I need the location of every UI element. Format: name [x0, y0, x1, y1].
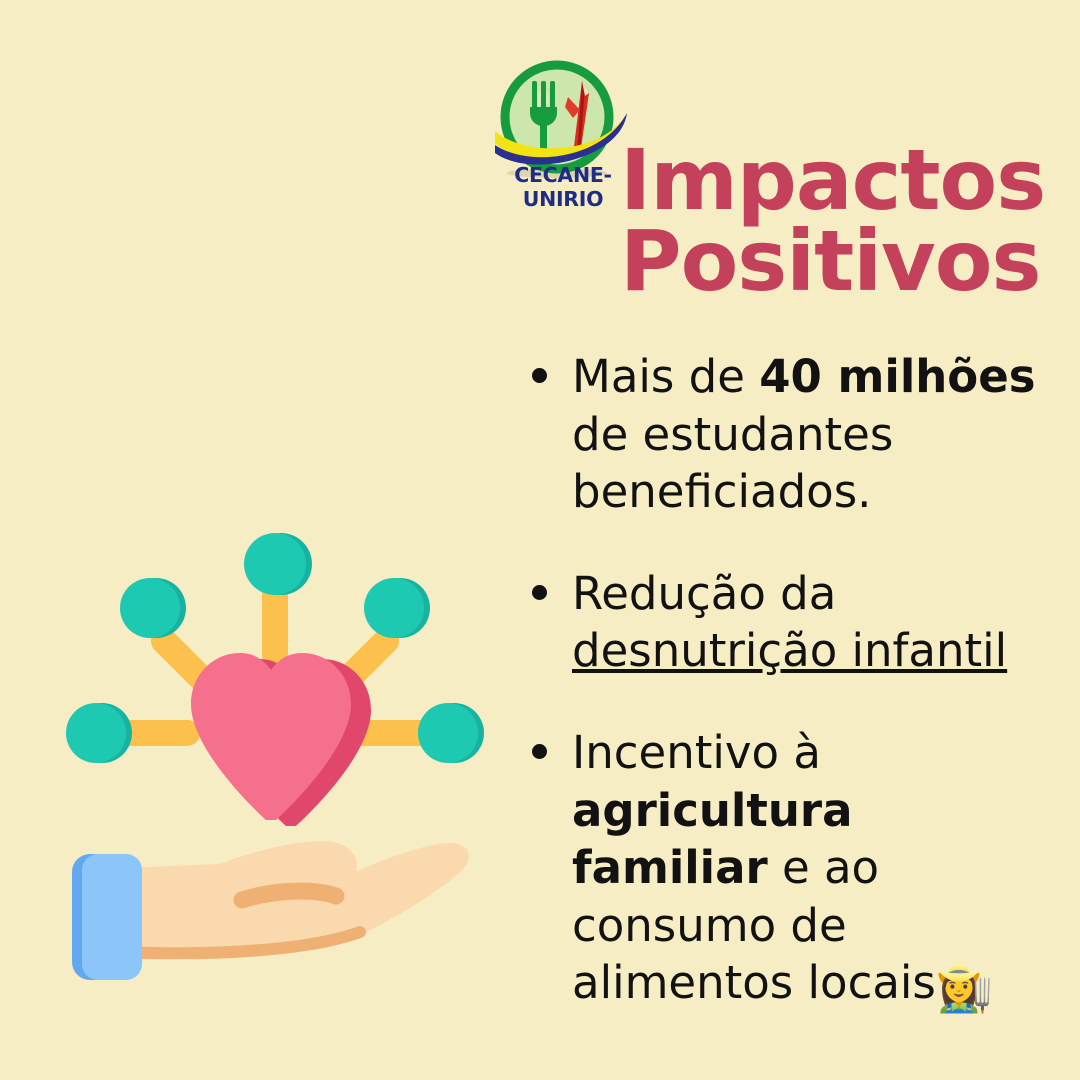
page-title: Impactos Positivos	[620, 140, 1040, 301]
heart-icon	[191, 653, 371, 826]
list-item: Incentivo à agricultura familiar e ao co…	[520, 724, 1060, 1018]
sleeve-cuff	[82, 854, 142, 980]
impact-bullet-list: Mais de 40 milhões de estudantes benefic…	[520, 348, 1060, 1018]
list-item: Redução da desnutrição infantil	[520, 565, 1060, 680]
cecane-unirio-logo: CECANE-UNIRIO	[485, 55, 640, 205]
header-block: CECANE-UNIRIO Impactos Positivos	[480, 50, 1040, 310]
bullet-dot-icon	[532, 368, 547, 383]
bullet-malnutrition-reduction-text: Redução da desnutrição infantil	[572, 565, 1060, 680]
hand-holding-heart-illustration	[60, 520, 490, 1020]
bullet-students-benefited-text: Mais de 40 milhões de estudantes benefic…	[572, 348, 1060, 521]
ray-top-icon	[244, 533, 312, 668]
open-hand-icon	[72, 841, 469, 980]
poster-canvas: CECANE-UNIRIO Impactos Positivos Mais de…	[0, 0, 1080, 1080]
bullet-seg-normal: Redução da	[572, 567, 836, 620]
bullet-seg-normal-2: de estudantes beneficiados.	[572, 408, 893, 519]
ray-left-icon	[66, 703, 200, 763]
list-item: Mais de 40 milhões de estudantes benefic…	[520, 348, 1060, 521]
woman-farmer-emoji-icon: 👩‍🌾	[936, 961, 993, 1015]
title-line-2: Positivos	[620, 221, 1040, 302]
bullet-seg-normal: Incentivo à	[572, 726, 821, 779]
bullet-seg-bold: 40 milhões	[759, 350, 1035, 403]
bullet-seg-underline: desnutrição infantil	[572, 624, 1007, 677]
bullet-seg-normal: Mais de	[572, 350, 759, 403]
title-line-1: Impactos	[620, 140, 1040, 221]
bullet-dot-icon	[532, 744, 547, 759]
bullet-family-agriculture-text: Incentivo à agricultura familiar e ao co…	[572, 724, 1060, 1018]
bullet-dot-icon	[532, 585, 547, 600]
